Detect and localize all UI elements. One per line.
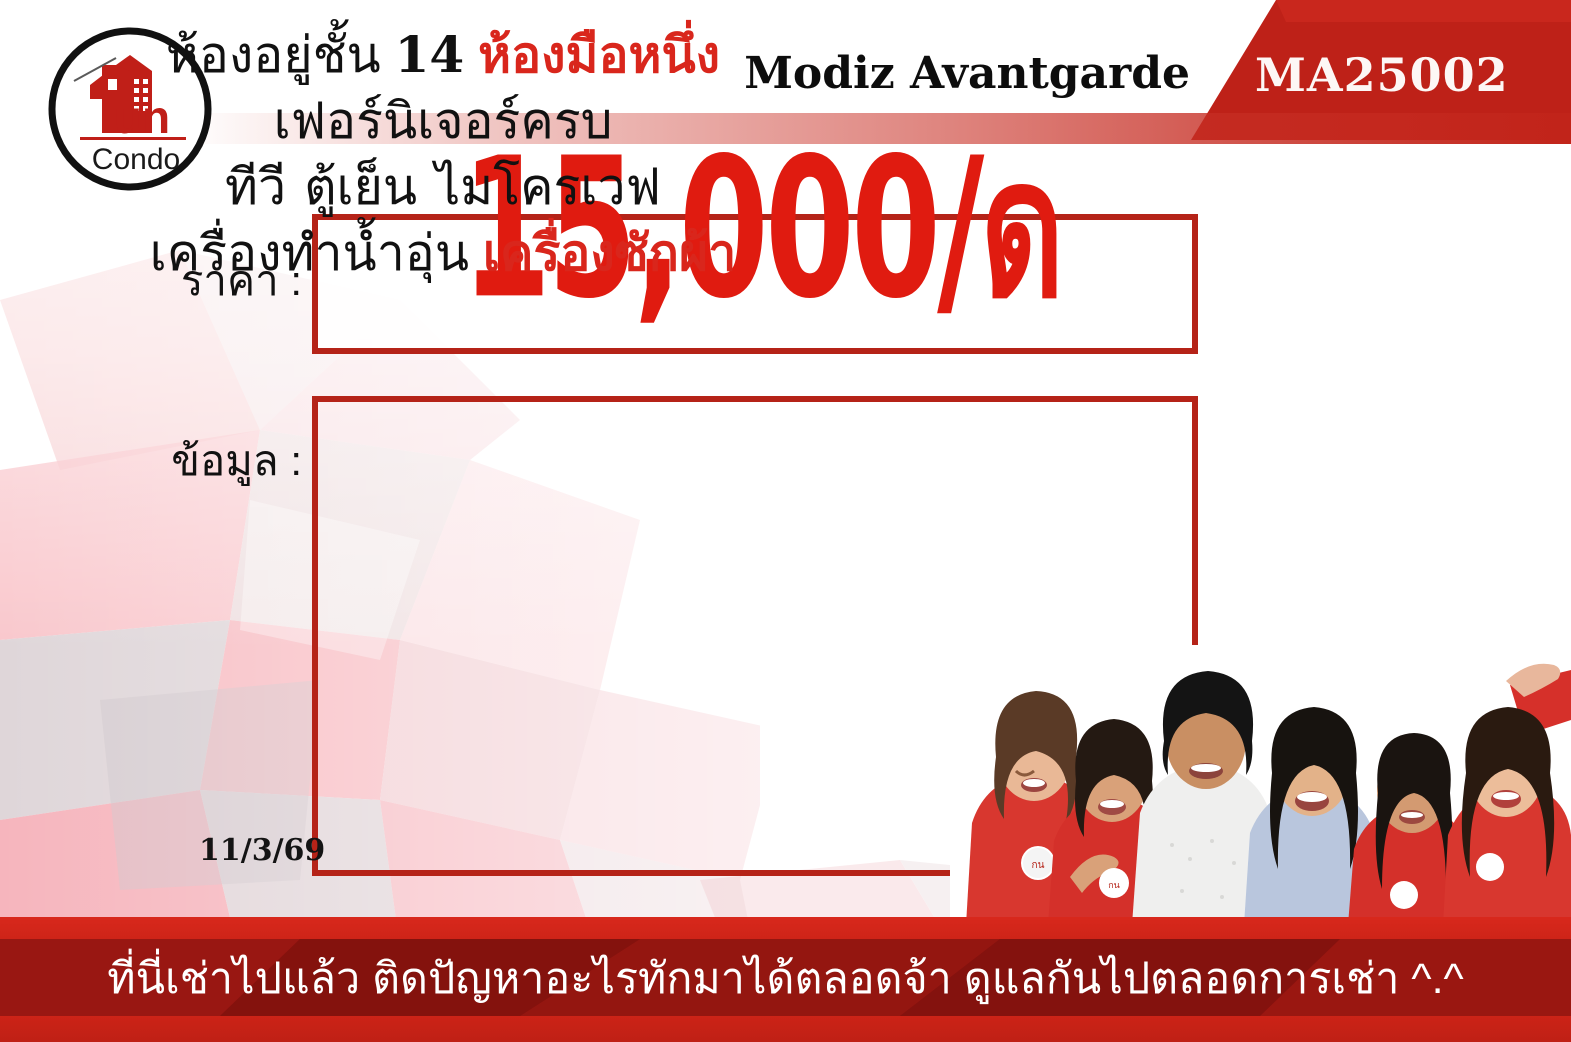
- banner-bottom-strip: [0, 1016, 1571, 1042]
- team-photo: กน กน: [950, 645, 1571, 925]
- date-stamp: 11/3/69: [199, 833, 325, 868]
- info-number: 14: [395, 25, 465, 84]
- svg-text:กน: กน: [1032, 860, 1045, 871]
- banner-message: ที่นี่เช่าไปแล้ว ติดปัญหาอะไรทักมาได้ตลอ…: [0, 939, 1571, 1016]
- listing-card: Modiz Avantgarde MA25002 un Condo ราคา :: [0, 0, 1571, 1042]
- info-line: ห้องอยู่ชั้น 14 ห้องมือหนึ่ง: [0, 22, 886, 88]
- info-label: ข้อมูล :: [130, 428, 302, 494]
- info-line: เฟอร์นิเจอร์ครบ: [0, 88, 886, 154]
- svg-text:กน: กน: [1108, 880, 1120, 890]
- info-text: ไมโครเวฟ: [435, 159, 661, 215]
- info-highlight: เครื่องซักผ้า: [483, 225, 736, 281]
- info-line: เครื่องทำน้ำอุ่น เครื่องซักผ้า: [0, 220, 886, 286]
- listing-code-badge: MA25002: [1255, 48, 1509, 102]
- info-text: ห้องอยู่ชั้น: [166, 27, 395, 83]
- info-text: ทีวี: [225, 159, 286, 215]
- info-text: เฟอร์นิเจอร์ครบ: [274, 93, 613, 149]
- info-text: [464, 27, 478, 83]
- info-line: ทีวี ตู้เย็น ไมโครเวฟ: [0, 154, 886, 220]
- info-text: ตู้เย็น: [304, 159, 417, 215]
- info-highlight: ห้องมือหนึ่ง: [478, 27, 720, 83]
- info-text: เครื่องทำน้ำอุ่น: [150, 225, 483, 281]
- bottom-banner: ที่นี่เช่าไปแล้ว ติดปัญหาอะไรทักมาได้ตลอ…: [0, 917, 1571, 1042]
- info-lines-container: ห้องอยู่ชั้น 14 ห้องมือหนึ่งเฟอร์นิเจอร์…: [0, 22, 886, 286]
- banner-top-strip: [0, 917, 1571, 939]
